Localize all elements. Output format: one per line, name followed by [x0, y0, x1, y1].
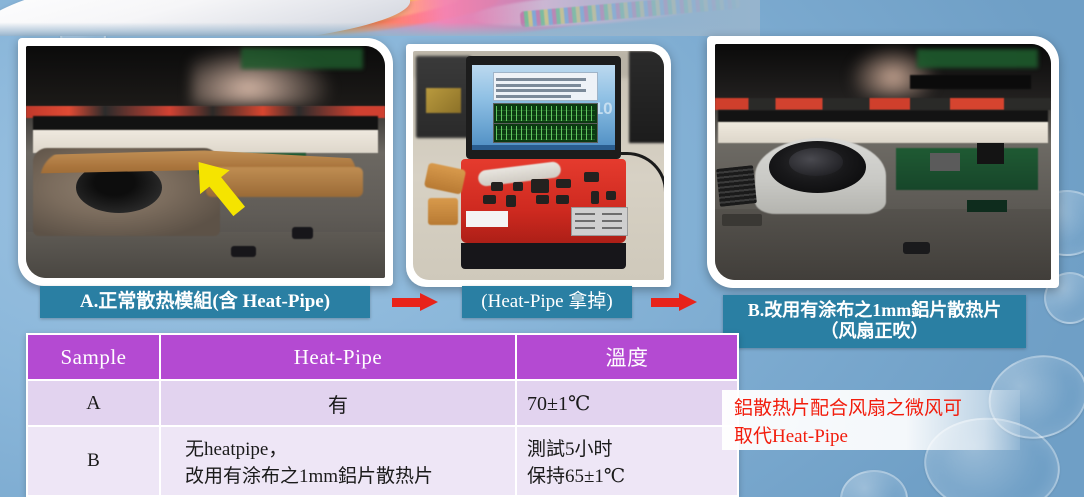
- column-header-sample: Sample: [27, 334, 160, 380]
- cell-heatpipe-b-line1: 无heatpipe，: [185, 434, 507, 461]
- photo-a-heatsink-with-heatpipe: [18, 38, 393, 286]
- flow-arrow-right-icon: [651, 296, 699, 308]
- cell-heatpipe-b: 无heatpipe， 改用有涂布之1mm鋁片散热片: [160, 426, 516, 496]
- conclusion-line1: 鋁散热片配合风扇之微风可: [734, 395, 1020, 423]
- cell-heatpipe-b-line2: 改用有涂布之1mm鋁片散热片: [185, 461, 507, 488]
- conclusion-callout: 鋁散热片配合风扇之微风可 取代Heat-Pipe: [722, 390, 1020, 450]
- caption-photo-b: B.改用有涂布之1mm鋁片散热片 （风扇正吹）: [723, 295, 1026, 348]
- column-header-heatpipe: Heat-Pipe: [160, 334, 516, 380]
- cell-sample-a: A: [27, 380, 160, 426]
- caption-heatpipe-removed: (Heat-Pipe 拿掉): [462, 286, 632, 318]
- column-header-temperature: 溫度: [516, 334, 738, 380]
- bubble-decoration-icon: [840, 470, 908, 497]
- comparison-table: Sample Heat-Pipe 溫度 A 有 70±1℃ B 无heatpip…: [26, 333, 739, 497]
- caption-photo-b-line1: B.改用有涂布之1mm鋁片散热片: [748, 300, 1002, 320]
- cell-temperature-b: 測試5小时 保持65±1℃: [516, 426, 738, 496]
- cell-temperature-b-line2: 保持65±1℃: [527, 461, 729, 488]
- photo-b-image: 10: [413, 51, 664, 280]
- cell-temperature-b-line1: 測試5小时: [527, 434, 729, 461]
- table-row: B 无heatpipe， 改用有涂布之1mm鋁片散热片 測試5小时 保持65±1…: [27, 426, 738, 496]
- cell-sample-b: B: [27, 426, 160, 496]
- table-row: A 有 70±1℃: [27, 380, 738, 426]
- train-banner-decoration: [0, 0, 760, 36]
- caption-photo-b-line2: （风扇正吹）: [723, 321, 1026, 342]
- flow-arrow-right-icon: [392, 296, 440, 308]
- photo-c-image: [715, 44, 1051, 280]
- conclusion-line2: 取代Heat-Pipe: [734, 423, 1020, 451]
- slide-canvas: 10: [0, 0, 1084, 497]
- table-header-row: Sample Heat-Pipe 溫度: [27, 334, 738, 380]
- cell-heatpipe-a: 有: [160, 380, 516, 426]
- caption-photo-a: A.正常散热模組(含 Heat-Pipe): [40, 286, 370, 318]
- photo-b-disassembled-laptop: 10: [406, 44, 671, 287]
- cell-temperature-a: 70±1℃: [516, 380, 738, 426]
- photo-c-fan-with-aluminium-sheet: [707, 36, 1059, 288]
- photo-a-image: [26, 46, 385, 278]
